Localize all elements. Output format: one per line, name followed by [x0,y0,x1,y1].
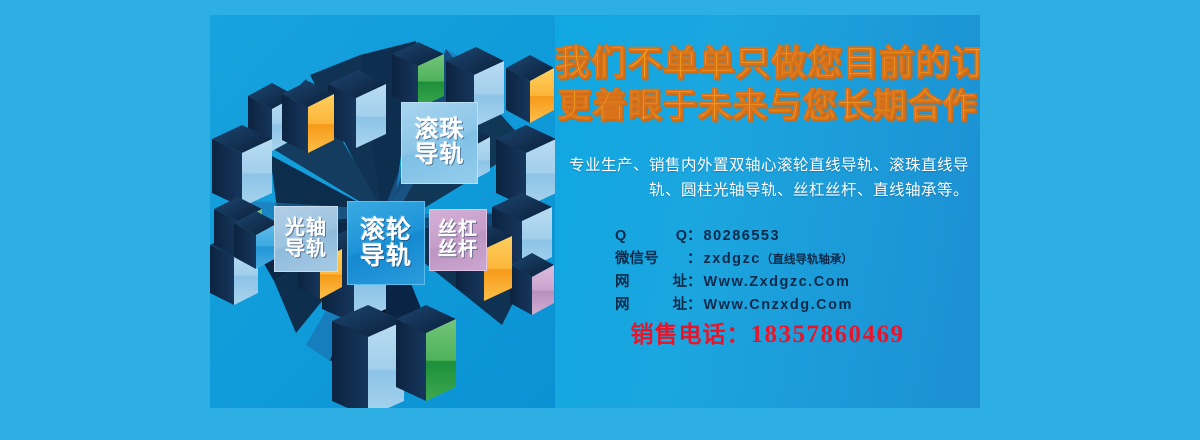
contact-label-website-2: 网 址 [615,294,687,317]
sales-phone-number: 18357860469 [751,321,905,348]
description-text: 专业生产、销售内外置双轴心滚轮直线导轨、滚珠直线导轨、圆柱光轴导轨、丝杠丝杆、直… [569,153,969,203]
contact-row-website-2: 网 址 ： Www.Cnzxdg.Com [615,294,975,317]
page-root: 滚珠 导轨 光轴 导轨 滚轮 导轨 丝杠 丝杆 我们不单单只做您目前的订单 更着… [0,0,1200,440]
contact-value-website-1[interactable]: Www.Zxdgzc.Com [704,271,851,294]
label-line-2: 导轨 [360,243,412,269]
label-cube-gunzhu-daogui: 滚珠 导轨 [401,102,478,184]
headline: 我们不单单只做您目前的订单 更着眼于未来与您长期合作 [555,43,980,127]
label-cube-sigang-sigan: 丝杠 丝杆 [429,209,487,271]
contact-value-wechat: zxdgzc [704,248,761,271]
label-cube-gunlun-daogui: 滚轮 导轨 [347,201,425,285]
cube [396,305,456,401]
contact-note-wechat: （直线导轨轴承） [761,251,853,269]
contact-row-wechat: 微信号 ： zxdgzc （直线导轨轴承） [615,248,975,271]
contact-separator: ： [687,294,702,317]
cube [234,211,278,269]
banner-text-column: 我们不单单只做您目前的订单 更着眼于未来与您长期合作 专业生产、销售内外置双轴心… [555,15,980,408]
contact-label-qq: Q Q [615,225,687,248]
cube [506,55,554,123]
contact-value-qq: 80286553 [704,225,781,248]
contact-row-qq: Q Q ： 80286553 [615,225,975,248]
contact-label-website-1: 网 址 [615,271,687,294]
contact-value-website-2[interactable]: Www.Cnzxdg.Com [704,294,853,317]
contact-separator: ： [687,225,702,248]
cube [332,305,404,408]
cube [392,42,444,108]
cube [212,125,272,207]
cube [282,81,334,153]
headline-line-2: 更着眼于未来与您长期合作 [555,86,980,127]
label-line-1: 滚轮 [360,217,412,243]
contact-separator: ： [687,248,702,271]
promo-banner: 滚珠 导轨 光轴 导轨 滚轮 导轨 丝杠 丝杆 我们不单单只做您目前的订单 更着… [210,15,980,408]
sales-phone: 销售电话：18357860469 [555,315,980,349]
label-line-2: 丝杆 [438,240,478,260]
contact-row-website-1: 网 址 ： Www.Zxdgzc.Com [615,271,975,294]
label-cube-guangzhou-daogui: 光轴 导轨 [274,206,338,272]
contact-label-wechat: 微信号 [615,248,687,271]
sales-phone-label: 销售电话： [631,321,751,347]
label-line-1: 滚珠 [415,118,465,143]
label-line-2: 导轨 [415,143,465,168]
cube [328,70,386,148]
contact-block: Q Q ： 80286553 微信号 ： zxdgzc （直线导轨轴承） 网 址 [615,225,975,317]
contact-separator: ： [687,271,702,294]
label-line-1: 光轴 [285,218,327,239]
cube [510,253,554,315]
headline-line-1: 我们不单单只做您目前的订单 [555,43,980,86]
label-line-2: 导轨 [285,239,327,260]
label-line-1: 丝杠 [438,220,478,240]
